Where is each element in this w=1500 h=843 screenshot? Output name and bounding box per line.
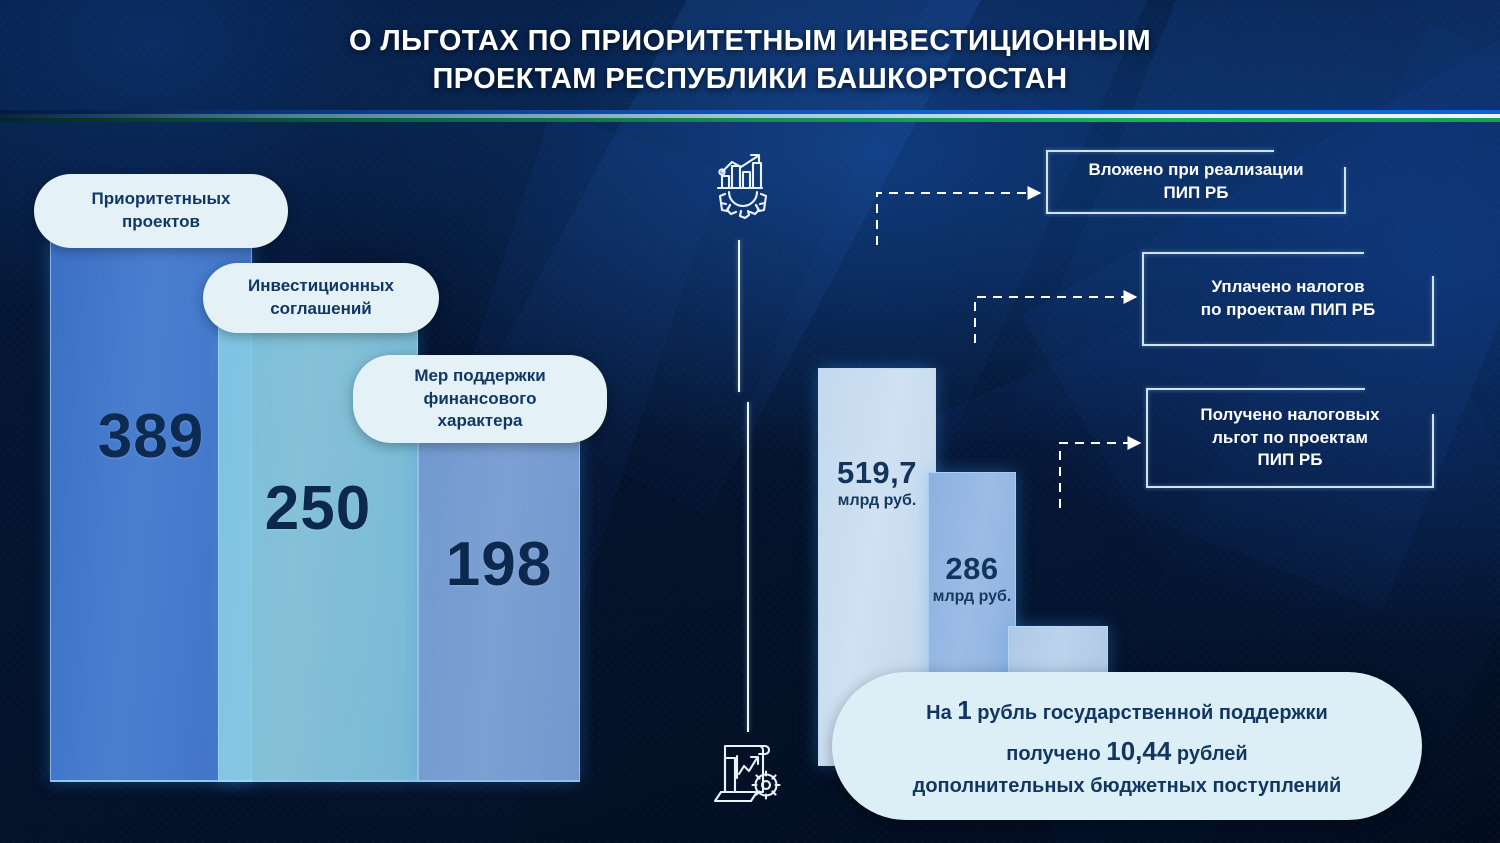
left-bar-3-label-line-3: характера [438,411,523,430]
callout-2-line-2: по проектам ПИП РБ [1201,300,1375,319]
callout-border-bottom [1142,344,1434,346]
right-bar-2-value: 286 [945,551,998,587]
callout-border-right [1432,414,1434,488]
summary-part-2: рубль государственной поддержки [972,702,1328,724]
summary-callout: На 1 рубль государственной поддержки пол… [832,672,1422,820]
vertical-divider-line-top [738,240,740,392]
left-bar-3-label-line-2: финансового [423,389,536,408]
callout-border-top [1046,150,1274,152]
left-bar-2-label-line-2: соглашений [270,299,372,318]
callout-border-right [1432,276,1434,346]
summary-part-1: На [926,702,957,724]
summary-part-3: получено [1006,743,1106,765]
left-bar-3-value: 198 [446,529,552,600]
callout-border-left [1046,150,1048,214]
left-bar-1-value: 389 [98,401,204,472]
callout-1-line-1: Вложено при реализации [1088,160,1303,179]
callout-border-top [1142,252,1364,254]
summary-number-2: 10,44 [1106,736,1171,766]
right-bar-2-unit: млрд руб. [933,588,1012,606]
callout-3-line-1: Получено налоговых [1200,405,1379,424]
right-bar-1-unit: млрд руб. [838,492,917,510]
right-bar-1-value: 519,7 [837,455,917,491]
summary-part-4: рублей [1171,743,1247,765]
left-bar-1-label-pill: Приоритетныых проектов [34,174,288,248]
callout-2-line-1: Уплачено налогов [1211,277,1364,296]
callout-box-invested: Вложено при реализации ПИП РБ [1046,150,1346,214]
callout-box-tax-benefits: Получено налоговых льгот по проектам ПИП… [1146,388,1434,488]
vertical-divider-line-bottom [747,402,749,732]
divider-band-green [0,118,1500,122]
left-bar-1-label-line-2: проектов [122,212,200,231]
summary-number-1: 1 [957,695,971,725]
left-bar-2-label-pill: Инвестиционных соглашений [203,263,439,333]
left-bar-2-value: 250 [265,473,371,544]
callout-border-left [1146,388,1148,488]
callout-3-line-2: льгот по проектам [1212,428,1368,447]
page-title-line-1: О ЛЬГОТАХ ПО ПРИОРИТЕТНЫМ ИНВЕСТИЦИОННЫМ [0,22,1500,60]
page-title-line-2: ПРОЕКТАМ РЕСПУБЛИКИ БАШКОРТОСТАН [0,60,1500,98]
page-title: О ЛЬГОТАХ ПО ПРИОРИТЕТНЫМ ИНВЕСТИЦИОННЫМ… [0,22,1500,99]
report-chart-gear-icon [708,738,786,808]
callout-3-line-3: ПИП РБ [1258,450,1323,469]
summary-part-5: дополнительных бюджетных поступлений [913,775,1342,797]
left-bar-3-label-line-1: Мер поддержки [414,366,545,385]
callout-box-taxes-paid: Уплачено налогов по проектам ПИП РБ [1142,252,1434,346]
callout-border-bottom [1146,486,1434,488]
callout-border-bottom [1046,212,1346,214]
callout-border-left [1142,252,1144,346]
callout-1-line-2: ПИП РБ [1164,183,1229,202]
summary-text: На 1 рубль государственной поддержки пол… [913,690,1342,802]
callout-border-top [1146,388,1365,390]
left-bar-1-label-line-1: Приоритетныых [92,189,231,208]
left-bar-2-label-line-1: Инвестиционных [248,276,394,295]
left-bar-3-label-pill: Мер поддержки финансового характера [353,355,607,443]
header-divider [0,108,1500,124]
callout-border-right [1344,167,1346,214]
bar-chart-growth-gear-icon [708,150,780,222]
